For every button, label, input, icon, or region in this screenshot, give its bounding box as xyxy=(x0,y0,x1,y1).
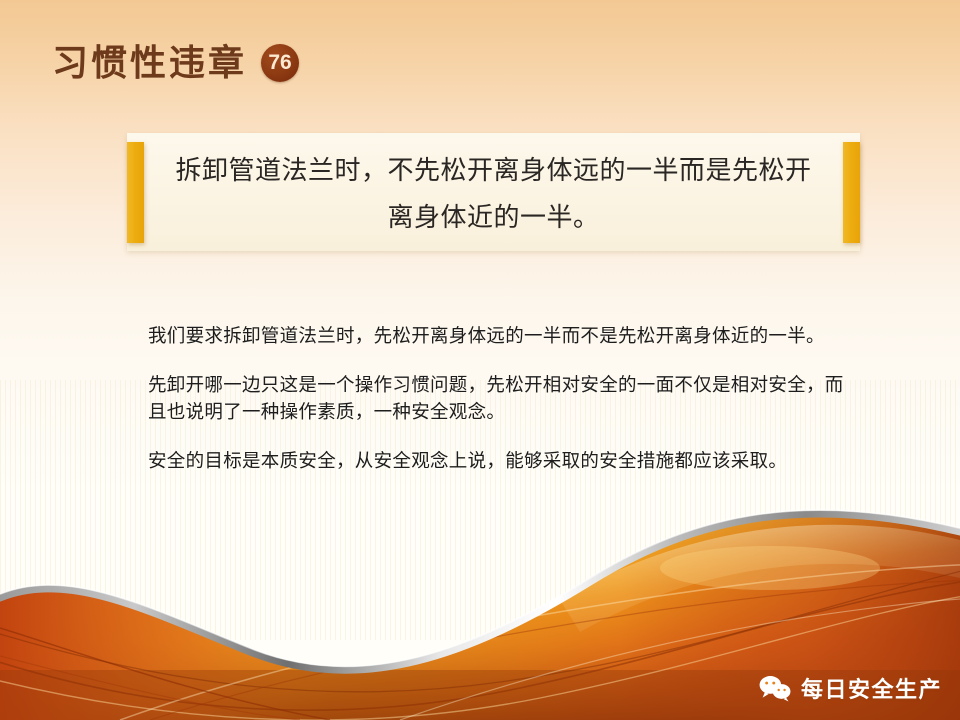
body-paragraph: 先卸开哪一边只这是一个操作习惯问题，先松开相对安全的一面不仅是相对安全，而且也说… xyxy=(148,371,854,425)
body-paragraph: 安全的目标是本质安全，从安全观念上说，能够采取的安全措施都应该采取。 xyxy=(148,447,854,474)
body-paragraph: 我们要求拆卸管道法兰时，先松开离身体远的一半而不是先松开离身体近的一半。 xyxy=(148,322,854,349)
callout-text: 拆卸管道法兰时，不先松开离身体远的一半而是先松开离身体近的一半。 xyxy=(167,147,820,241)
slide-header: 习惯性违章 76 xyxy=(52,44,299,82)
status-badge: 76 xyxy=(261,44,299,82)
wechat-watermark: 每日安全生产 xyxy=(758,672,942,704)
body-text-block: 我们要求拆卸管道法兰时，先松开离身体远的一半而不是先松开离身体近的一半。 先卸开… xyxy=(148,322,854,474)
callout-left-bar xyxy=(127,142,144,243)
callout-right-bar xyxy=(843,142,860,243)
headline-callout-box: 拆卸管道法兰时，不先松开离身体远的一半而是先松开离身体近的一半。 xyxy=(127,133,860,251)
wechat-label: 每日安全生产 xyxy=(801,672,942,704)
slide-canvas: 习惯性违章 76 拆卸管道法兰时，不先松开离身体远的一半而是先松开离身体近的一半… xyxy=(0,0,960,720)
page-title: 习惯性违章 xyxy=(52,45,247,81)
wechat-icon xyxy=(758,674,792,702)
